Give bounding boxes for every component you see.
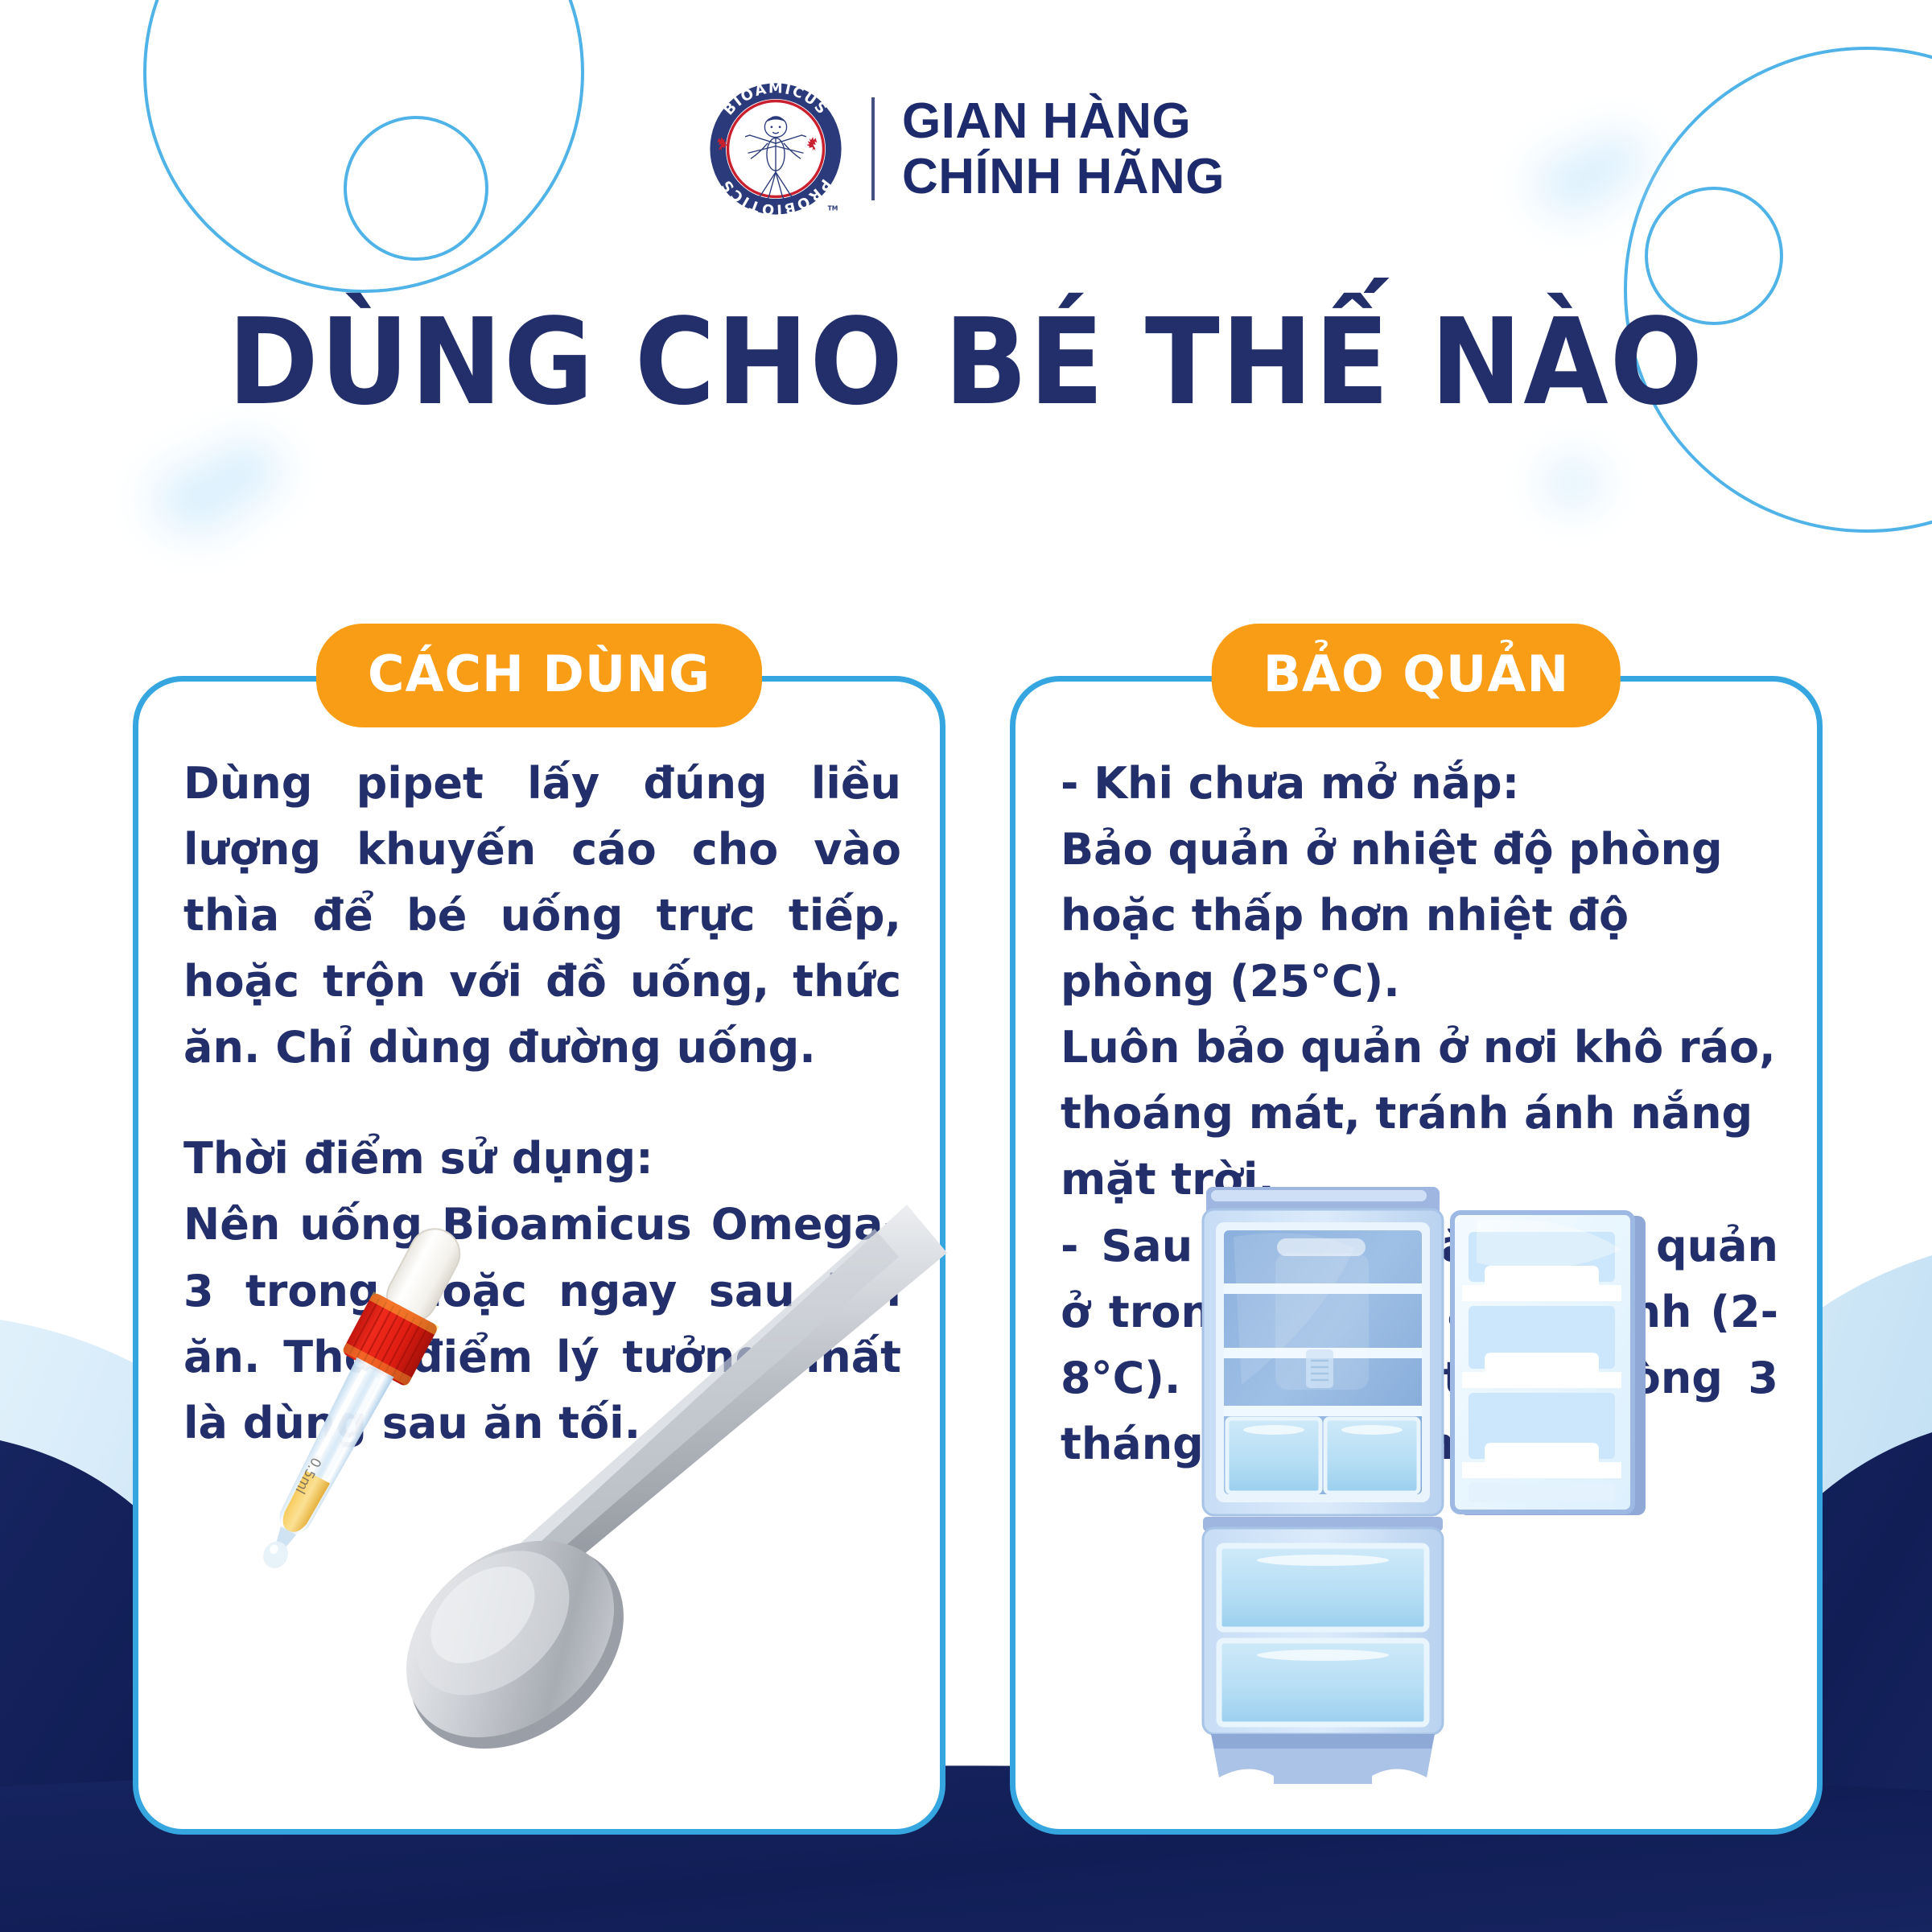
usage-timing-heading: Thời điểm sử dụng: <box>183 1126 901 1192</box>
brand-name: GIAN HÀNG CHÍNH HÃNG <box>902 93 1225 205</box>
header-divider <box>871 97 875 200</box>
storage-line-1: - Khi chưa mở nắp: <box>1061 751 1778 817</box>
deco-cloud <box>1528 446 1618 520</box>
card-usage: CÁCH DÙNG Dùng pipet lấy đúng liều lượng… <box>133 676 945 1835</box>
spacer <box>183 1081 901 1126</box>
page-title: DÙNG CHO BÉ THẾ NÀO <box>77 303 1855 422</box>
brand-line-2: CHÍNH HÃNG <box>902 149 1225 204</box>
card-storage-badge: BẢO QUẢN <box>1212 624 1621 727</box>
spoon-icon <box>368 1205 947 1790</box>
usage-paragraph-1: Dùng pipet lấy đúng liều lượng khuyến cá… <box>183 751 901 1081</box>
card-usage-badge: CÁCH DÙNG <box>316 624 762 727</box>
fridge-open-door <box>1452 1213 1646 1515</box>
pipette-icon: 0.5ml <box>237 1215 480 1584</box>
fridge-vent-icon <box>1306 1349 1333 1388</box>
pipette-and-spoon-illustration: 0.5ml <box>227 1197 951 1808</box>
storage-paragraph-1: Bảo quản ở nhiệt độ phòng hoặc thấp hơn … <box>1061 817 1778 1015</box>
brand-line-1: GIAN HÀNG <box>902 93 1225 149</box>
refrigerator-illustration <box>1156 1164 1687 1800</box>
brand-header: BIOAMICUS PROBIOTICS <box>0 64 1932 233</box>
bioamicus-probiotics-logo-icon: BIOAMICUS PROBIOTICS <box>707 80 844 217</box>
card-storage: BẢO QUẢN - Khi chưa mở nắp: Bảo quản ở n… <box>1010 676 1823 1835</box>
fridge-shelf <box>1224 1406 1422 1416</box>
svg-text:TM: TM <box>828 204 838 212</box>
